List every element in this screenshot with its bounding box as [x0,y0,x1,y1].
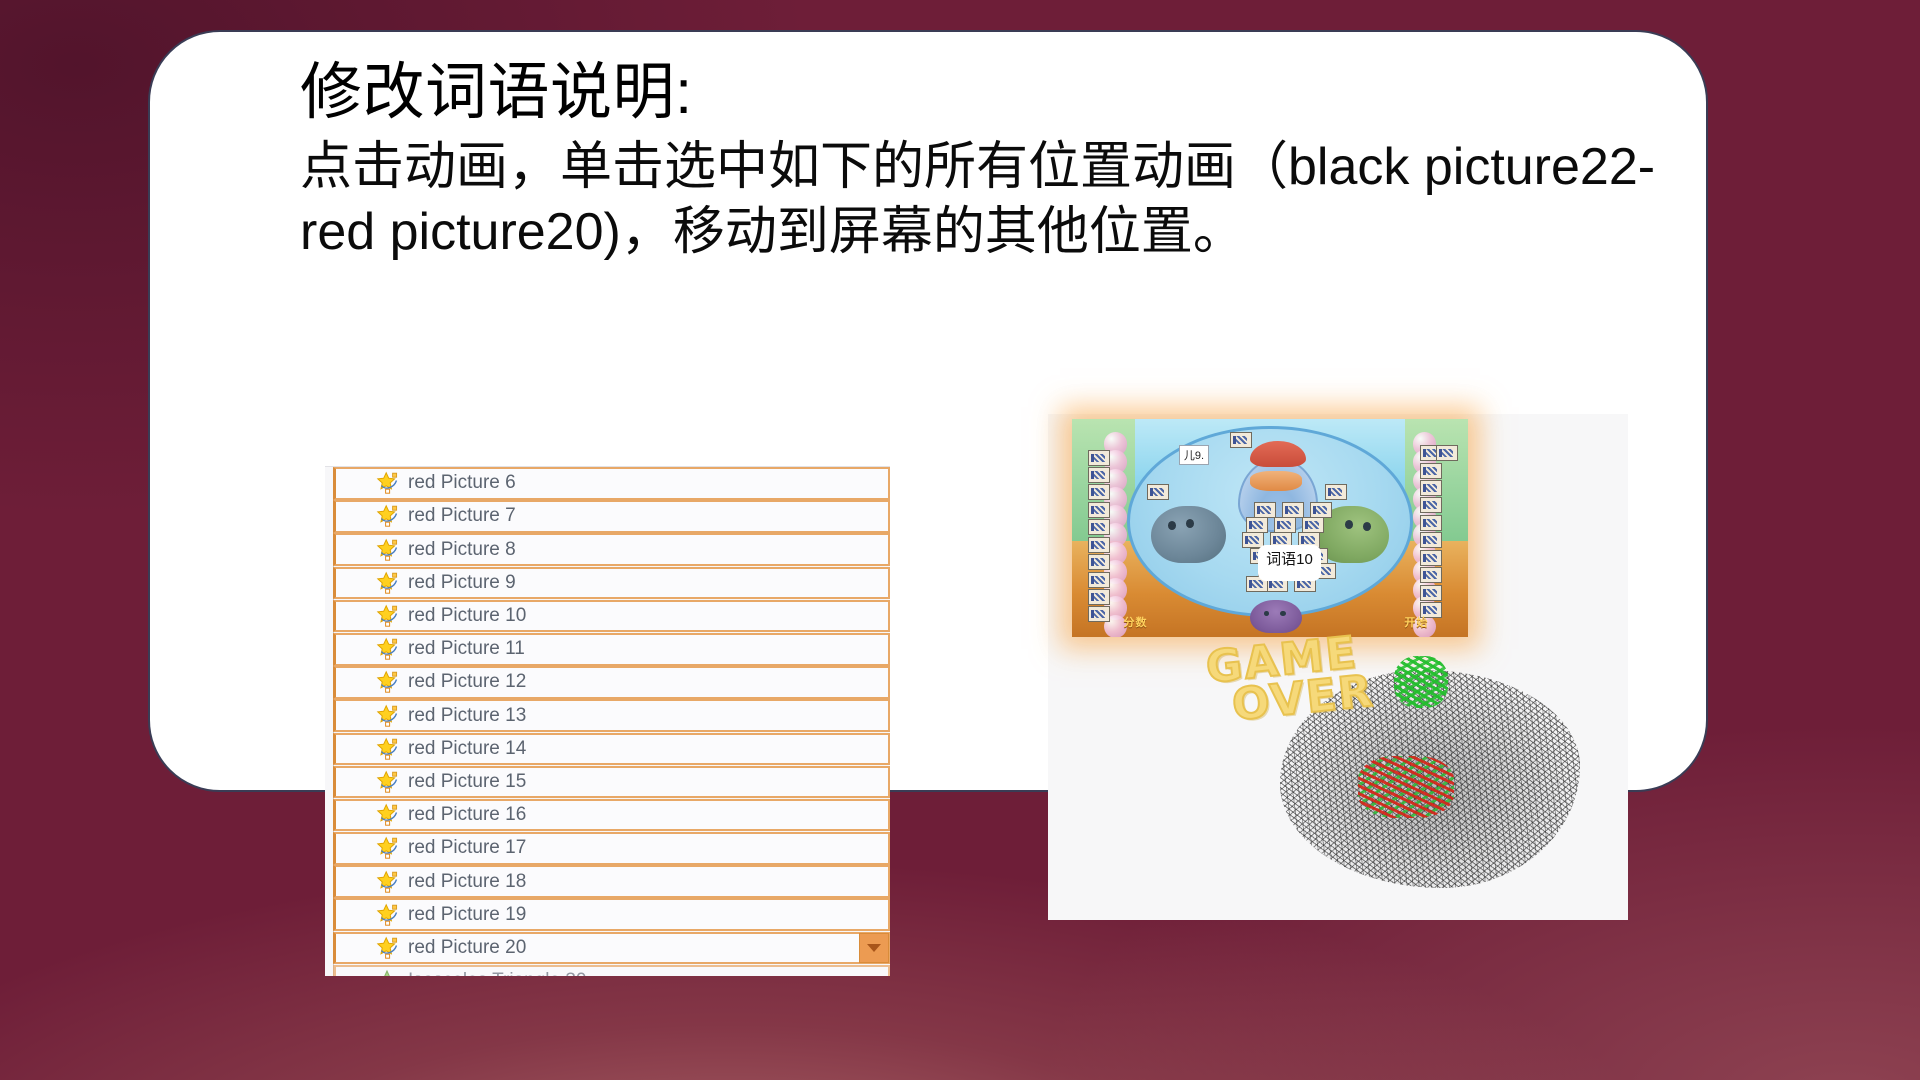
card-tile-icon [1420,515,1442,531]
card-tile-icon [1436,445,1458,461]
list-item-label: red Picture 17 [408,837,526,859]
body-paragraph: 点击动画，单击选中如下的所有位置动画（black picture22-red p… [300,135,1680,264]
hippo-purple-character [1250,600,1301,633]
card-tile-icon [1088,484,1110,500]
card-tile-icon [1420,532,1442,548]
list-item-label: red Picture 12 [408,671,526,693]
list-item-label: red Picture 11 [408,638,525,660]
list-item[interactable]: red Picture 16 [333,799,890,832]
list-item-label: red Picture 16 [408,804,526,826]
motion-path-star-icon [376,504,400,528]
card-tile-icon [1147,484,1169,500]
eye-icon [1168,521,1176,530]
chevron-down-icon [867,944,881,952]
motion-path-star-icon [376,538,400,562]
gameover-artwork: GAME OVER [1198,634,1598,904]
motion-path-star-icon [376,637,400,661]
list-item-label: red Picture 18 [408,871,526,893]
card-tile-icon [1254,502,1276,518]
eye-icon [1345,520,1353,529]
gameover-text: GAME OVER [1204,632,1376,730]
card-tile-icon [1088,467,1110,483]
list-item[interactable]: red Picture 17 [333,832,890,865]
list-item[interactable]: red Picture 18 [333,865,890,898]
motion-path-star-icon [376,870,400,894]
list-item-label: red Picture 7 [408,505,516,527]
card-tile-icon [1274,517,1296,533]
list-item-label: red Picture 10 [408,605,526,627]
card-tile-icon [1088,572,1110,588]
game-screenshot: 儿9. 词语10 分数 开始 [1072,419,1468,637]
motion-path-star-icon [376,704,400,728]
row-dropdown-button[interactable] [859,933,889,964]
card-tile-icon [1088,606,1110,622]
card-tile-icon [1420,497,1442,513]
motion-path-star-icon [376,471,400,495]
card-tile-icon [1088,537,1110,553]
list-item[interactable]: red Picture 7 [333,500,890,533]
motion-path-star-icon [376,803,400,827]
motion-path-star-icon [376,670,400,694]
motion-path-star-icon [376,903,400,927]
game-tooltip: 儿9. [1179,445,1209,465]
list-item[interactable]: red Picture 14 [333,733,890,766]
card-tile-icon [1282,502,1304,518]
motion-path-star-icon [376,770,400,794]
trigger-green-icon [376,969,400,976]
list-item[interactable]: red Picture 10 [333,600,890,633]
animation-row-list[interactable]: red Picture 6red Picture 7red Picture 8r… [325,467,890,964]
list-item-label: red Picture 14 [408,738,526,760]
eye-icon [1186,519,1194,528]
card-tile-icon [1088,450,1110,466]
list-item-partial[interactable]: Isosceles Triangle 30 [333,965,890,976]
card-tile-icon [1420,550,1442,566]
list-item-label: red Picture 19 [408,904,526,926]
card-tile-icon [1088,589,1110,605]
card-tile-icon [1420,463,1442,479]
page-title: 修改词语说明: [300,56,1700,129]
card-tile-icon [1088,554,1110,570]
scribble-green-accent [1394,656,1448,708]
animation-pane[interactable]: red Picture 6red Picture 7red Picture 8r… [325,466,890,976]
list-item-label: red Picture 9 [408,572,516,594]
text-block: 修改词语说明: 点击动画，单击选中如下的所有位置动画（black picture… [300,56,1700,264]
list-item[interactable]: red Picture 15 [333,766,890,799]
card-tile-icon [1230,432,1252,448]
hippo-blue-character [1151,506,1226,563]
start-label: 开始 [1404,614,1428,630]
list-item[interactable]: red Picture 6 [333,467,890,500]
list-item-label: red Picture 8 [408,539,516,561]
eye-icon [1363,522,1371,531]
card-tile-icon [1420,480,1442,496]
card-tile-icon [1302,517,1324,533]
motion-path-star-icon [376,737,400,761]
list-item-label: red Picture 20 [408,937,526,959]
eye-icon [1264,611,1270,616]
card-tile-icon [1310,502,1332,518]
card-tile-icon [1088,502,1110,518]
slide-canvas: 修改词语说明: 点击动画，单击选中如下的所有位置动画（black picture… [0,0,1920,1080]
shell-base-icon [1250,471,1301,491]
card-tile-icon [1420,567,1442,583]
card-tile-icon [1325,484,1347,500]
motion-path-star-icon [376,836,400,860]
card-tile-icon [1420,585,1442,601]
list-item[interactable]: red Picture 11 [333,633,890,666]
card-tile-icon [1246,517,1268,533]
list-item-label: Isosceles Triangle 30 [408,970,587,976]
list-item[interactable]: red Picture 8 [333,533,890,566]
list-item-label: red Picture 6 [408,472,516,494]
word-counter-chip: 词语10 [1258,545,1321,581]
motion-path-star-icon [376,604,400,628]
motion-path-star-icon [376,571,400,595]
score-label: 分数 [1123,614,1147,630]
motion-path-star-icon [376,936,400,960]
list-item[interactable]: red Picture 19 [333,898,890,931]
scribble-red-accent [1358,756,1454,818]
list-item[interactable]: red Picture 9 [333,567,890,600]
list-item[interactable]: red Picture 13 [333,699,890,732]
media-column: 儿9. 词语10 分数 开始 GAME OVER [1048,414,1628,920]
list-item[interactable]: red Picture 20 [333,932,890,965]
list-item[interactable]: red Picture 12 [333,666,890,699]
list-item-label: red Picture 15 [408,771,526,793]
eye-icon [1280,611,1286,616]
card-tile-icon [1088,519,1110,535]
list-item-label: red Picture 13 [408,705,526,727]
